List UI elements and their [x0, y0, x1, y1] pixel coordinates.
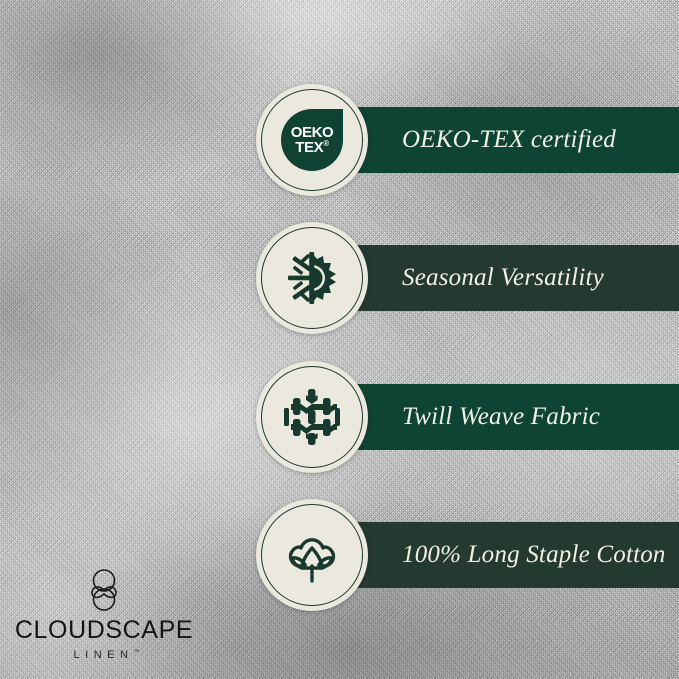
- basket-weave-icon: [256, 361, 368, 473]
- feature-label: 100% Long Staple Cotton: [402, 541, 666, 569]
- interlocking-circles-icon: [14, 566, 194, 614]
- feature-label: Twill Weave Fabric: [402, 403, 600, 431]
- oeko-mark-line2: TEX®: [295, 140, 328, 155]
- trademark-symbol: ™: [133, 649, 139, 655]
- feature-label: Seasonal Versatility: [402, 264, 604, 292]
- feature-badge: [256, 222, 368, 334]
- oeko-mark-line1: OEKO: [291, 125, 334, 140]
- brand-name: CLOUDSCAPE: [14, 616, 194, 645]
- feature-row-oeko-tex: OEKO-TEX certified OEKO TEX®: [0, 84, 679, 196]
- feature-badge: [256, 499, 368, 611]
- snowflake-sun-icon: [256, 222, 368, 334]
- feature-badge: [256, 361, 368, 473]
- oeko-tex-logo-icon: OEKO TEX®: [256, 84, 368, 196]
- cotton-boll-icon: [256, 499, 368, 611]
- feature-row-seasonal-versatility: Seasonal Versatility: [0, 222, 679, 334]
- product-infographic: OEKO-TEX certified OEKO TEX® Seasonal Ve…: [0, 0, 679, 679]
- registered-trademark-symbol: ®: [323, 139, 329, 148]
- brand-logo: CLOUDSCAPE LINEN™: [14, 566, 194, 661]
- feature-row-twill-weave: Twill Weave Fabric: [0, 361, 679, 473]
- feature-badge: OEKO TEX®: [256, 84, 368, 196]
- brand-tagline: LINEN™: [14, 649, 194, 661]
- feature-label: OEKO-TEX certified: [402, 126, 616, 154]
